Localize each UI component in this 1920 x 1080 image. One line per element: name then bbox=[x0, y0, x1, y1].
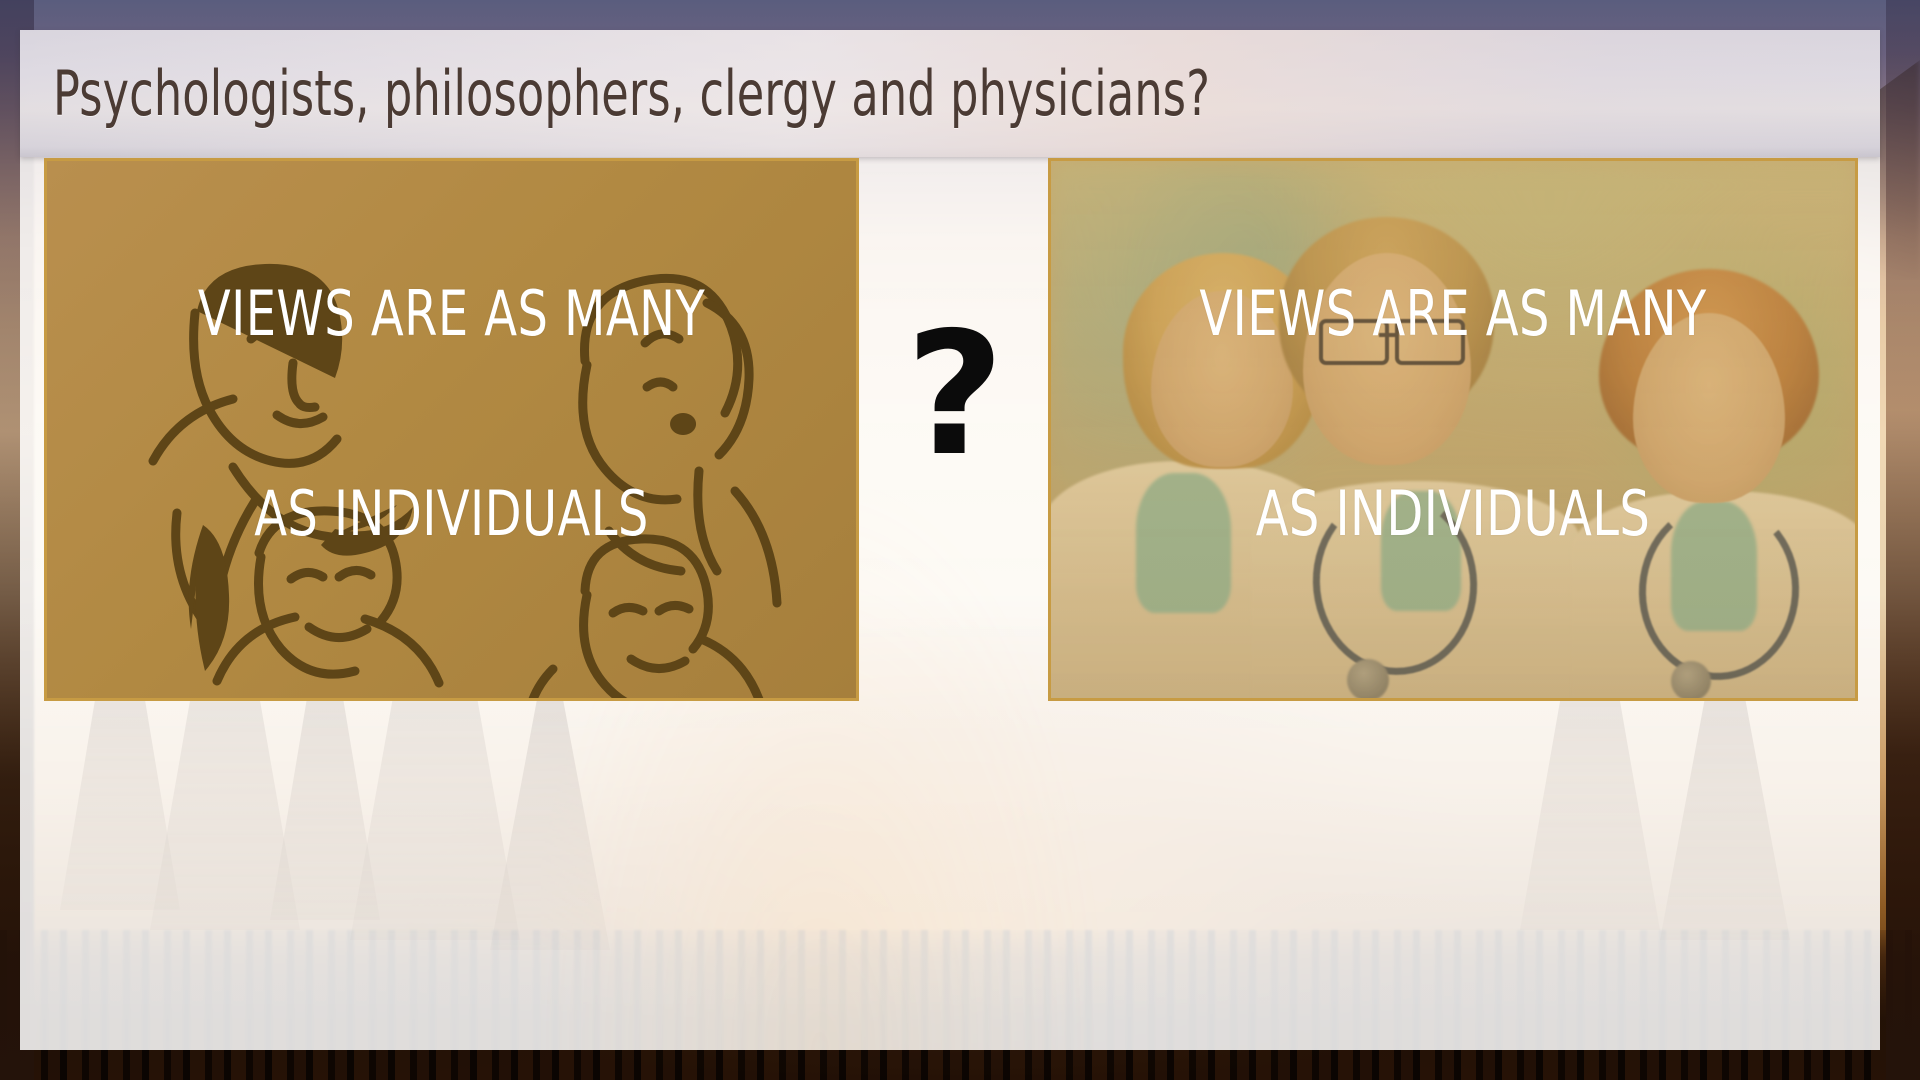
photo-light-overlay bbox=[1051, 161, 1855, 698]
people-line-art-icon bbox=[47, 161, 856, 698]
right-image-panel[interactable]: VIEWS ARE AS MANY AS INDIVIDUALS bbox=[1048, 158, 1858, 701]
left-caption-line-1: VIEWS ARE AS MANY bbox=[104, 283, 800, 345]
question-mark-symbol: ? bbox=[880, 310, 1030, 480]
page-title: Psychologists, philosophers, clergy and … bbox=[53, 63, 1210, 125]
doctors-photo bbox=[1051, 161, 1855, 698]
slide-title-bar: Psychologists, philosophers, clergy and … bbox=[20, 30, 1880, 157]
right-caption-line-2: AS INDIVIDUALS bbox=[1107, 483, 1798, 545]
right-caption-line-1: VIEWS ARE AS MANY bbox=[1107, 283, 1798, 345]
left-caption-line-2: AS INDIVIDUALS bbox=[104, 483, 800, 545]
presentation-slide: Psychologists, philosophers, clergy and … bbox=[0, 0, 1920, 1080]
background-right-forest-edge bbox=[1886, 0, 1920, 1080]
left-image-panel[interactable]: VIEWS ARE AS MANY AS INDIVIDUALS bbox=[44, 158, 859, 701]
